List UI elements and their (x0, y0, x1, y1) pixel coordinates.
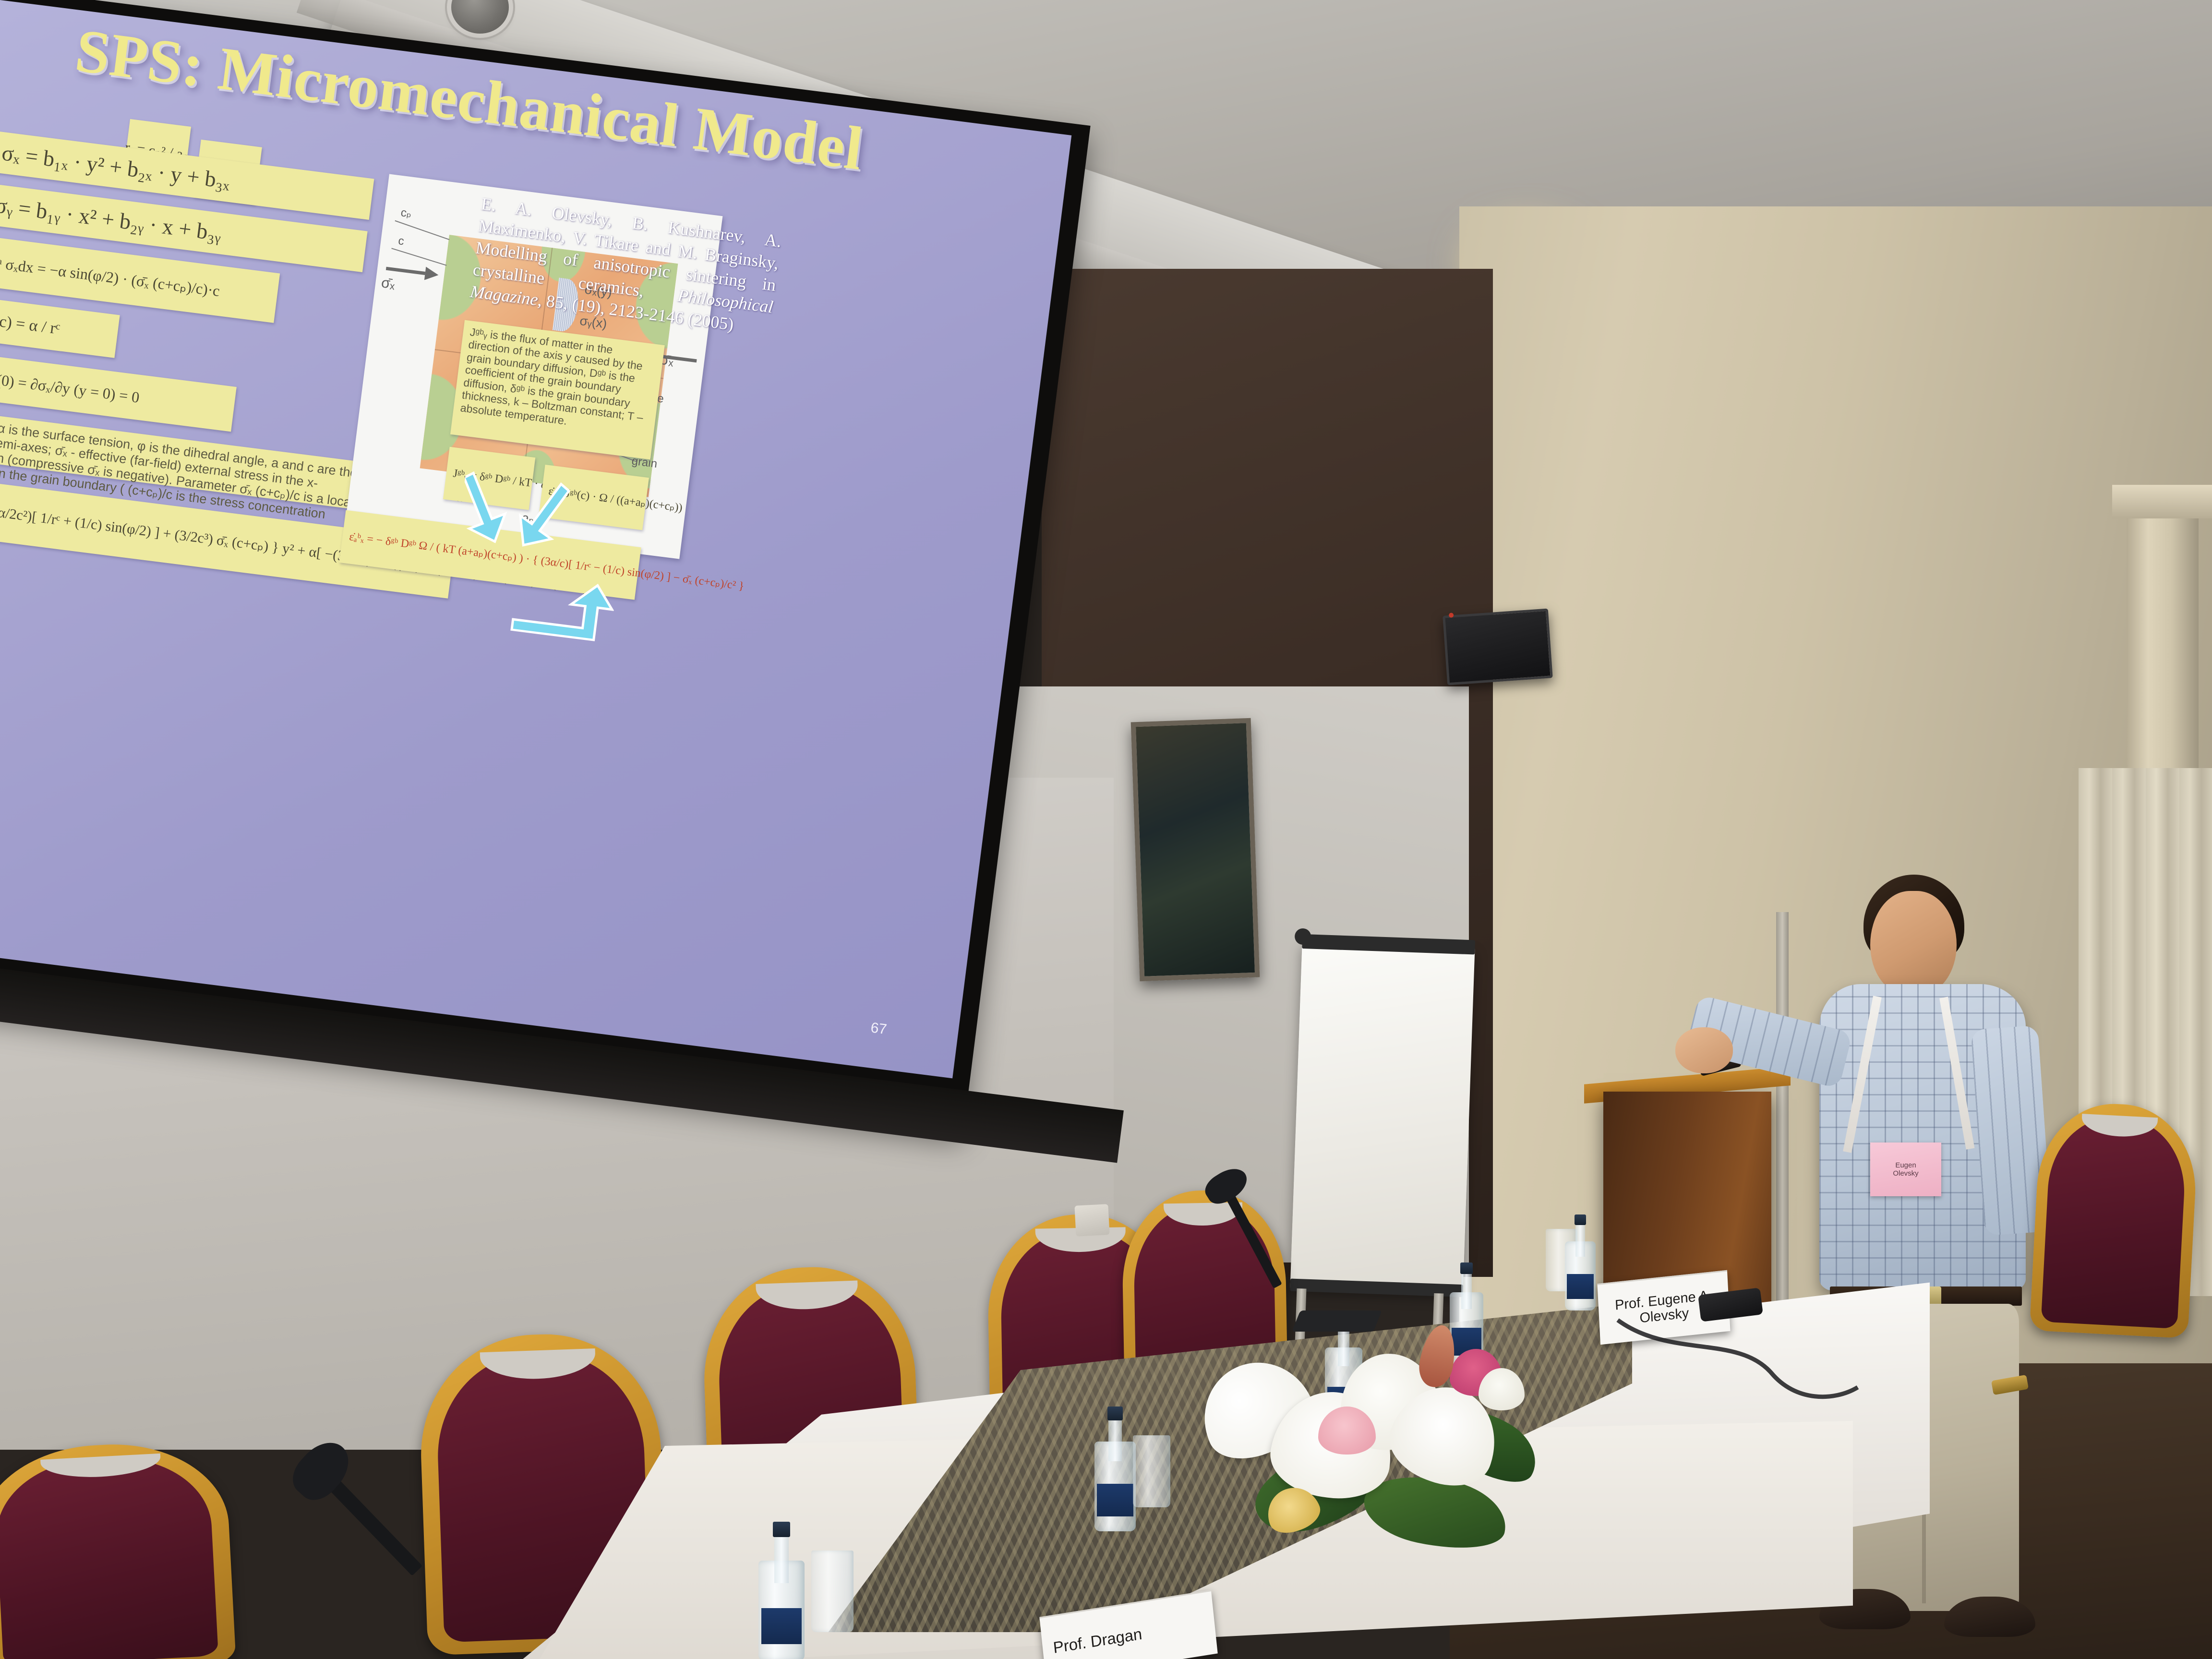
wall-power-outlet[interactable] (1074, 1204, 1109, 1237)
microphone-cable (1613, 1315, 1863, 1440)
chair-5[interactable] (0, 1439, 236, 1659)
drinking-glass-1[interactable] (811, 1551, 854, 1632)
conference-room-photo: SPS: Micromechanical Model rₑ = cₚ² / aₚ… (0, 0, 2212, 1659)
column-capital (2112, 485, 2212, 518)
speaker-name-badge: Eugen Olevsky (1870, 1142, 1941, 1196)
figure-label-cp: cₚ (400, 205, 412, 221)
speaker-head (1870, 891, 1957, 995)
chair-side-right[interactable] (2030, 1100, 2200, 1339)
water-bottle-5[interactable] (1565, 1214, 1596, 1310)
figure-label-c: c (397, 234, 405, 248)
flower-centerpiece (1181, 1296, 1546, 1565)
drinking-glass-2[interactable] (1133, 1435, 1170, 1507)
monitor-power-led (1449, 613, 1454, 618)
cyan-arrow-up-right-icon (510, 573, 617, 643)
table-microphone-front[interactable] (307, 1450, 509, 1642)
cyan-arrow-down-right-icon (505, 475, 571, 554)
wall-monitor (1443, 609, 1553, 685)
equation-box-sigma-rc: σᵧ(c) = α / rᶜ (0, 297, 120, 358)
water-bottle-1[interactable] (758, 1522, 805, 1659)
table-microphone-rear[interactable] (1200, 1171, 1354, 1334)
equation-box-gradient: ∇σₓ(0) = ∂σₓ/∂y (y = 0) = 0 (0, 353, 237, 432)
framed-painting (1131, 718, 1260, 981)
projected-slide: SPS: Micromechanical Model rₑ = cₚ² / aₚ… (0, 0, 1071, 1078)
water-bottle-2[interactable] (1094, 1407, 1136, 1531)
slide-number: 67 (870, 1020, 888, 1038)
speaker-left-hand (1675, 1027, 1733, 1073)
